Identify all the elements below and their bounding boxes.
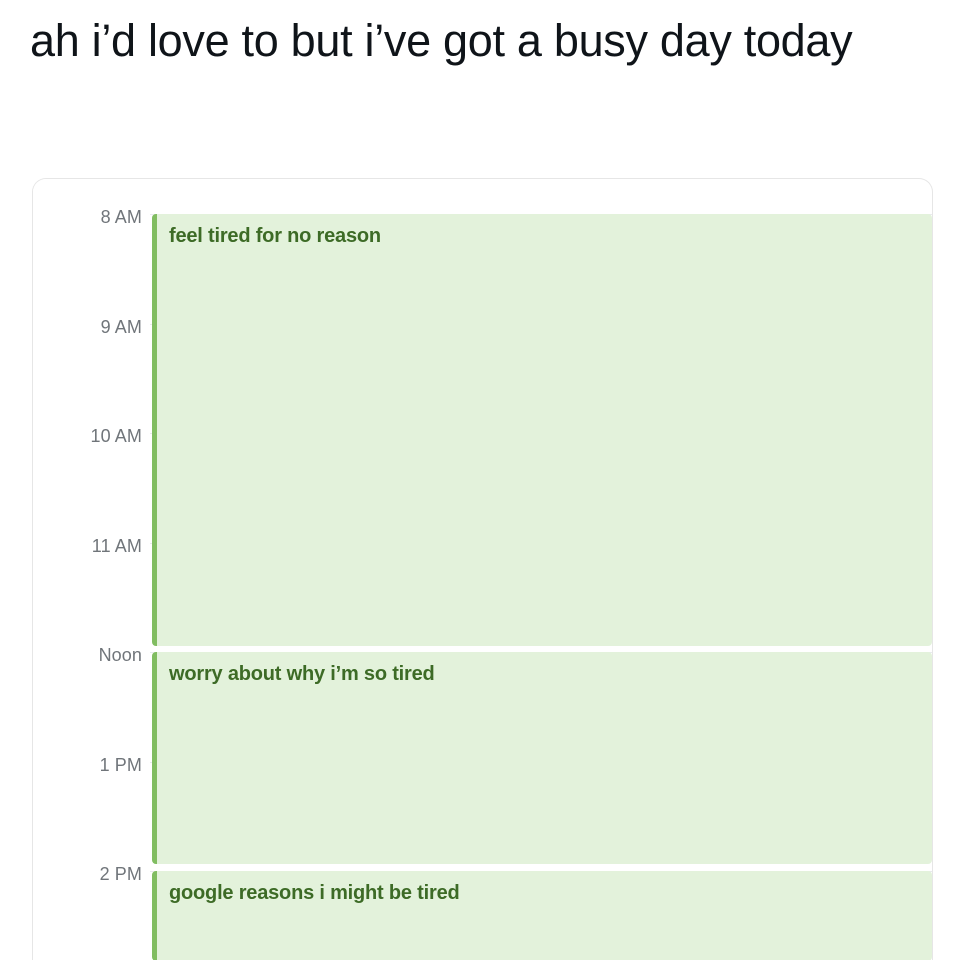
hour-label-2-pm: 2 PM	[37, 865, 142, 883]
hour-label-1-pm: 1 PM	[37, 756, 142, 774]
calendar-event[interactable]: worry about why i’m so tired	[152, 652, 932, 864]
hour-label-9-am: 9 AM	[37, 318, 142, 336]
hour-label-11-am: 11 AM	[37, 537, 142, 555]
hour-label-8-am: 8 AM	[37, 208, 142, 226]
event-title: google reasons i might be tired	[157, 871, 932, 905]
event-title: feel tired for no reason	[157, 214, 932, 248]
tweet-body-text: ah i’d love to but i’ve got a busy day t…	[30, 8, 930, 74]
event-title: worry about why i’m so tired	[157, 652, 932, 686]
calendar-event[interactable]: google reasons i might be tired	[152, 871, 932, 960]
hour-label-10-am: 10 AM	[37, 427, 142, 445]
calendar-event[interactable]: feel tired for no reason	[152, 214, 932, 646]
time-axis-gutter: 8 AM9 AM10 AM11 AMNoon1 PM2 PM	[33, 179, 150, 960]
hour-label-noon: Noon	[37, 646, 142, 664]
screenshot-root: ah i’d love to but i’ve got a busy day t…	[0, 0, 960, 960]
calendar-day-view-card: 8 AM9 AM10 AM11 AMNoon1 PM2 PM feel tire…	[32, 178, 933, 960]
